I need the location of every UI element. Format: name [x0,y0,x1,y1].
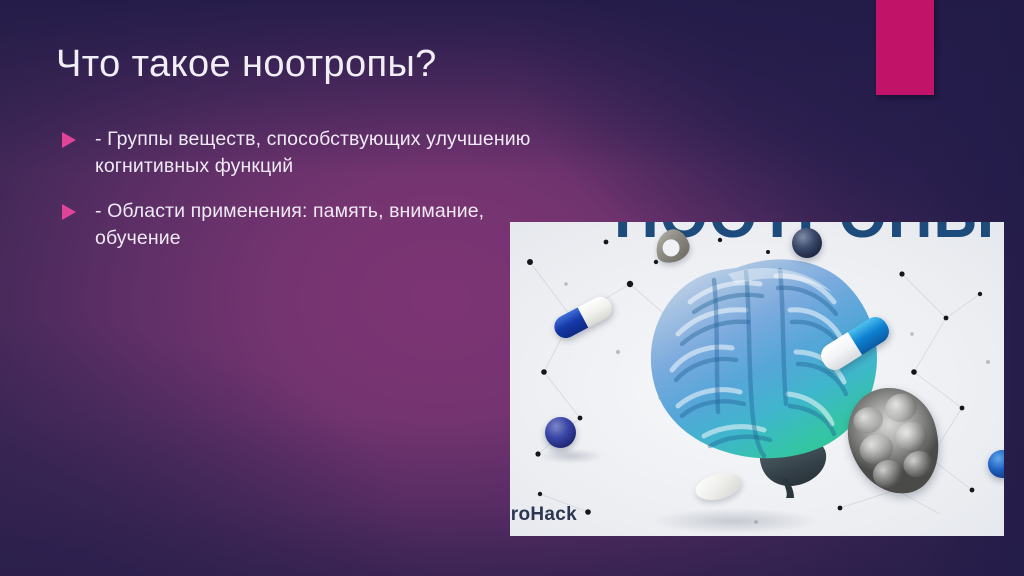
brain-ground-shadow [650,508,820,534]
blueberry-blue-icon [545,417,576,448]
berry-ground-shadow [538,448,604,464]
slide-title: Что такое ноотропы? [56,44,756,86]
bullet-item-1: - Группы веществ, способствующих улучшен… [62,126,562,180]
blueberry-dark-icon [792,228,822,258]
bullet-item-2: - Области применения: память, внимание, … [62,198,562,252]
bullet-list: - Группы веществ, способствующих улучшен… [62,126,562,270]
bullet-text: - Группы веществ, способствующих улучшен… [95,126,562,180]
triangle-bullet-icon [62,204,76,220]
accent-bar [876,0,934,95]
slide-canvas: Что такое ноотропы? - Группы веществ, сп… [0,0,1024,576]
slide-image: НООТРОПЫ [510,222,1004,536]
triangle-bullet-icon [62,132,76,148]
image-credit: NeuroHack [510,504,577,526]
bullet-text: - Области применения: память, внимание, … [95,198,562,252]
